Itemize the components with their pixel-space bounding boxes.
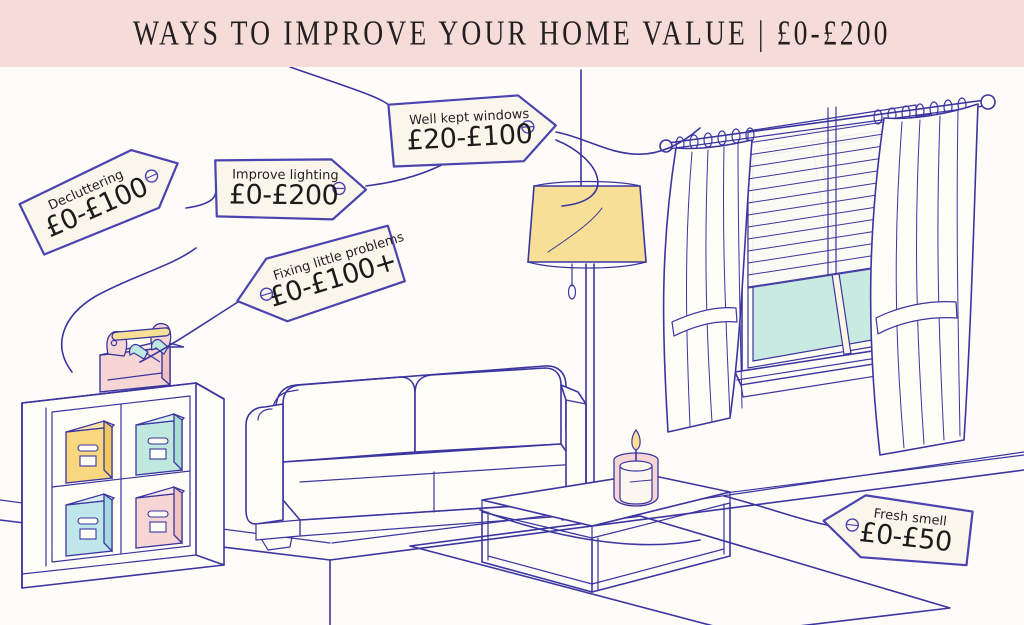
price-tag-well-kept-windows[interactable]: Well kept windows £20-£100 xyxy=(386,91,560,170)
storage-box-pink xyxy=(136,487,184,548)
price-tag-improve-lighting[interactable]: Improve lighting £0-£200 xyxy=(213,156,369,221)
header-banner: WAYS TO IMPROVE YOUR HOME VALUE | £0-£20… xyxy=(0,0,1024,67)
storage-box-mint xyxy=(136,414,184,475)
curtain-right xyxy=(871,104,978,455)
shelf-unit xyxy=(22,383,224,588)
page-title: WAYS TO IMPROVE YOUR HOME VALUE | £0-£20… xyxy=(133,13,891,53)
storage-box-blue xyxy=(66,494,114,556)
storage-box-yellow xyxy=(66,421,114,483)
